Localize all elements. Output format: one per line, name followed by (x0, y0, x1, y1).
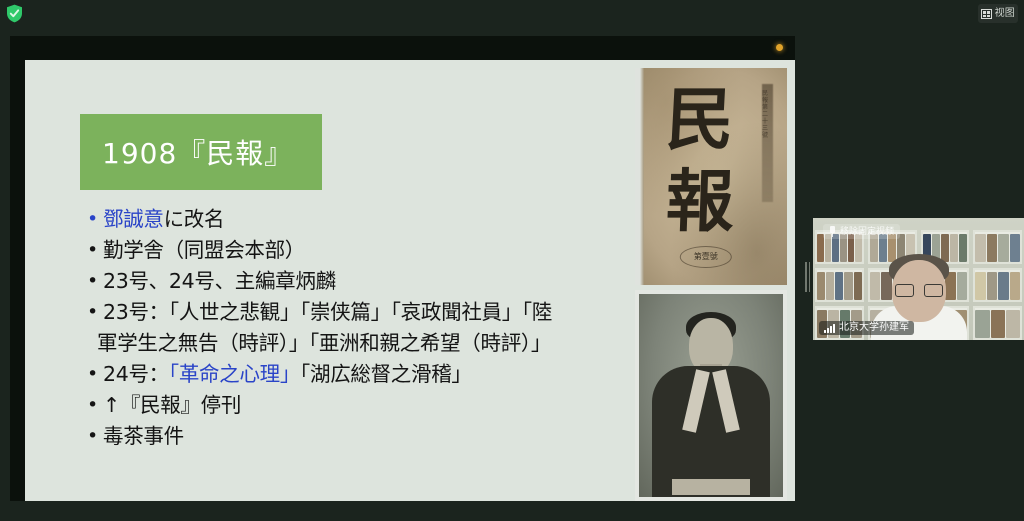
bullet-text: 毒茶事件 (103, 424, 184, 448)
historical-portrait-photo (635, 290, 787, 501)
signal-bars-icon (824, 324, 835, 333)
bullet-text: 勤学舎（同盟会本部） (103, 238, 305, 262)
list-item: 鄧誠意に改名 (87, 204, 677, 235)
bullet-highlight-text: 「革命之心理」 (169, 362, 300, 386)
shelf-cell (973, 230, 1022, 264)
list-item: 24号：「革命之心理」「湖広総督之滑稽」 (87, 359, 677, 390)
presentation-slide: 1908『民報』 鄧誠意に改名 勤学舎（同盟会本部） 23号、24号、主編章炳麟… (25, 60, 795, 501)
bullet-text: ↑『民報』停刊 (103, 393, 241, 417)
shelf-cell (815, 268, 864, 302)
participant-name-bar: 北京大学孙建军 (819, 321, 914, 335)
bullet-text: に改名 (164, 207, 225, 231)
unpin-video-button[interactable]: 移除固定视频 (823, 224, 900, 239)
shelf-cell (973, 306, 1022, 340)
bullet-text: 23号：「人世之悲観」「崇侠篇」「哀政聞社員」「陸 (103, 300, 552, 324)
participant-glasses (895, 284, 943, 297)
portrait-frame (635, 290, 787, 501)
zoom-meeting-window: 视图 1908『民報』 鄧誠意に改名 勤学舎（同盟会本部） 23号、24号、主編… (0, 0, 1024, 521)
bullet-text-continuation: 軍学生之無告（時評）」「亜洲和親之希望（時評）」 (97, 328, 657, 359)
meeting-top-bar: 视图 (0, 0, 1024, 28)
list-item: ↑『民報』停刊 (87, 390, 677, 421)
screen-share-active-dot (776, 44, 783, 51)
cover-seal-stamp: 第壹號 (680, 246, 732, 268)
bullet-text: 23号、24号、主編章炳麟 (103, 269, 336, 293)
shelf-cell (973, 268, 1022, 302)
slide-title-box: 1908『民報』 (80, 114, 322, 190)
unpin-video-label: 移除固定视频 (840, 227, 894, 236)
shield-check-icon[interactable] (6, 4, 23, 23)
participant-name-label: 北京大学孙建军 (839, 323, 909, 333)
cover-character-top: 民 (635, 86, 767, 154)
list-item: 23号、24号、主編章炳麟 (87, 266, 677, 297)
slide-title: 1908『民報』 (80, 132, 293, 172)
minbao-cover-photo: 民 報 第壹號 民報第二十三號 (635, 68, 787, 285)
slide-bullet-list: 鄧誠意に改名 勤学舎（同盟会本部） 23号、24号、主編章炳麟 23号：「人世之… (87, 204, 677, 452)
participant-video-tile[interactable]: 移除固定视频 北京大学孙建军 (813, 218, 1024, 340)
list-item: 毒茶事件 (87, 421, 677, 452)
list-item: 23号：「人世之悲観」「崇侠篇」「哀政聞社員」「陸 軍学生之無告（時評）」「亜洲… (87, 297, 657, 359)
bullet-text: 24号： (103, 362, 169, 386)
view-button[interactable]: 视图 (978, 4, 1018, 23)
grid-view-icon (981, 9, 992, 19)
bullet-text: 「湖広総督之滑稽」 (300, 362, 472, 386)
bullet-highlight-text: 鄧誠意 (103, 207, 164, 231)
cover-character-bottom: 報 (635, 168, 766, 236)
video-panel-drag-handle[interactable] (805, 262, 810, 292)
pin-icon (829, 226, 836, 237)
list-item: 勤学舎（同盟会本部） (87, 235, 677, 266)
cover-side-text: 民報第二十三號 (762, 90, 771, 139)
shared-content-region[interactable]: 1908『民報』 鄧誠意に改名 勤学舎（同盟会本部） 23号、24号、主編章炳麟… (10, 36, 795, 501)
view-button-label: 视图 (995, 9, 1015, 19)
